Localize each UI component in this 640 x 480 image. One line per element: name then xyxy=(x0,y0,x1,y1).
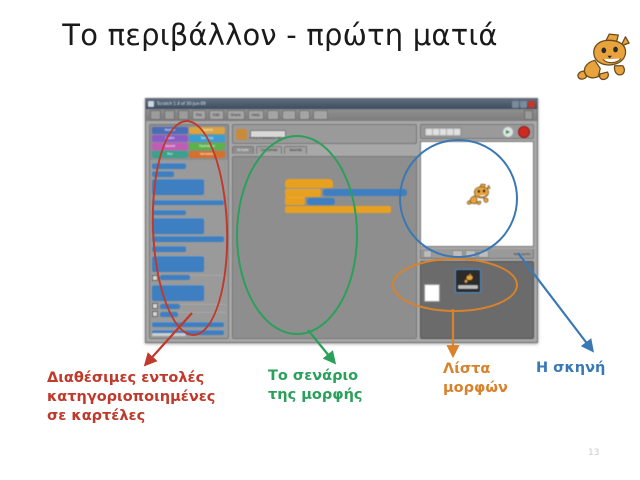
palette-block[interactable] xyxy=(152,163,186,169)
category-operators[interactable]: Operators xyxy=(189,143,225,150)
new-sprite-bar: New sprite: xyxy=(420,249,534,259)
menu-item-file[interactable]: File xyxy=(192,110,206,120)
file-new-icon[interactable] xyxy=(164,110,175,120)
palette-block[interactable] xyxy=(152,246,186,252)
annotation-label-sprite-script: Το σενάριο της μορφής xyxy=(268,367,363,405)
category-pen[interactable]: Pen xyxy=(152,151,188,158)
sprite-item-label xyxy=(458,285,478,289)
category-sound[interactable]: Sound xyxy=(152,143,188,150)
stop-button[interactable] xyxy=(518,126,530,138)
window-titlebar: Scratch 1.4 of 30-Jun-09 xyxy=(146,99,537,109)
maximize-button[interactable] xyxy=(520,101,527,108)
script-block[interactable] xyxy=(285,189,321,197)
palette-block[interactable] xyxy=(152,200,224,206)
script-block-row[interactable] xyxy=(285,197,407,205)
palette-block[interactable] xyxy=(152,256,204,272)
category-buttons: Motion Control Looks Sensing Sound Opera… xyxy=(150,125,228,160)
minimize-button[interactable] xyxy=(512,101,519,108)
close-button[interactable] xyxy=(528,101,535,108)
tab-scripts[interactable]: Scripts xyxy=(232,146,254,154)
palette-block-checkbox-row[interactable] xyxy=(152,304,226,310)
new-sprite-label: New sprite: xyxy=(514,252,531,256)
duplicate-icon[interactable] xyxy=(433,129,439,135)
script-column: x: 0 y: 0 direction: 90 Scripts Costumes… xyxy=(232,124,417,339)
slide-canvas: Το περιβάλλον - πρώτη ματιά Scratch 1.4 … xyxy=(0,0,640,480)
palette-block-checkbox-row[interactable] xyxy=(152,275,226,281)
palette-block[interactable] xyxy=(152,171,174,177)
sprite-list-item[interactable] xyxy=(455,269,481,293)
sprite-coordinates: x: 0 y: 0 direction: 90 xyxy=(249,136,281,140)
stage-thumbnail[interactable] xyxy=(424,284,440,302)
tab-sounds[interactable]: Sounds xyxy=(284,146,306,154)
scratch-cat-sprite-icon[interactable] xyxy=(465,180,491,206)
palette-block[interactable] xyxy=(160,304,180,309)
menu-item-help[interactable]: Help xyxy=(248,110,264,120)
window-menubar: File Edit Share Help xyxy=(146,109,537,121)
checkbox-icon[interactable] xyxy=(152,275,158,281)
grow-icon[interactable] xyxy=(447,129,453,135)
annotation-label-commands-palette: Διαθέσιμες εντολές κατηγοριοποιημένες σε… xyxy=(47,369,215,426)
scratch-app-icon xyxy=(148,101,154,107)
sprite-thumbnail-icon xyxy=(236,129,247,140)
script-tabs: Scripts Costumes Sounds xyxy=(232,146,417,154)
script-hat-block[interactable] xyxy=(285,179,333,188)
scissors-icon[interactable] xyxy=(440,129,446,135)
language-globe-icon[interactable] xyxy=(150,110,161,120)
palette-block[interactable] xyxy=(152,236,224,242)
palette-block-checkbox-row[interactable] xyxy=(152,312,226,318)
annotation-label-stage: Η σκηνή xyxy=(536,359,605,378)
palette-block[interactable] xyxy=(152,218,204,234)
window-controls xyxy=(512,101,535,108)
scratch-logo-icon xyxy=(524,110,533,120)
category-control[interactable]: Control xyxy=(189,127,225,134)
new-sprite-import[interactable] xyxy=(465,250,476,258)
script-block-row[interactable] xyxy=(285,189,407,197)
file-open-icon[interactable] xyxy=(178,110,189,120)
palette-block[interactable] xyxy=(152,322,224,328)
stage-area[interactable] xyxy=(420,141,534,247)
script-reporter-block[interactable] xyxy=(307,198,335,205)
scratch-cat-logo-icon xyxy=(573,26,631,82)
pointer-icon[interactable] xyxy=(426,129,432,135)
menu-item-edit[interactable]: Edit xyxy=(209,110,224,120)
category-sensing[interactable]: Sensing xyxy=(189,135,225,142)
script-block[interactable] xyxy=(285,206,391,213)
script-reporter-block[interactable] xyxy=(323,189,407,196)
sprite-info-header: x: 0 y: 0 direction: 90 xyxy=(232,124,417,144)
script-block[interactable] xyxy=(285,197,305,205)
menu-item-share[interactable]: Share xyxy=(227,110,245,120)
category-variables[interactable]: Variables xyxy=(189,151,225,158)
checkbox-icon[interactable] xyxy=(152,303,158,309)
category-looks[interactable]: Looks xyxy=(152,135,188,142)
script-stack[interactable] xyxy=(285,179,407,213)
shrink-icon[interactable] xyxy=(454,129,460,135)
sprite-list-panel[interactable] xyxy=(420,261,534,339)
checkbox-icon[interactable] xyxy=(152,311,158,317)
menubar-extra-4[interactable] xyxy=(313,110,328,120)
menubar-extra-3[interactable] xyxy=(299,110,310,120)
page-number: 13 xyxy=(588,448,599,458)
palette-block[interactable] xyxy=(160,275,190,280)
scratch-window-screenshot: Scratch 1.4 of 30-Jun-09 File Edit Share… xyxy=(145,98,538,343)
palette-block[interactable] xyxy=(152,285,204,301)
script-canvas[interactable] xyxy=(232,156,417,339)
page-title: Το περιβάλλον - πρώτη ματιά xyxy=(0,18,560,52)
new-sprite-random[interactable] xyxy=(478,250,489,258)
stage-toolbar xyxy=(420,124,534,139)
window-title: Scratch 1.4 of 30-Jun-09 xyxy=(157,99,512,109)
sprite-item-icon xyxy=(462,272,474,284)
menubar-extra-1[interactable] xyxy=(267,110,279,120)
green-flag-button[interactable] xyxy=(502,126,514,138)
block-palette-panel[interactable]: Motion Control Looks Sensing Sound Opera… xyxy=(149,124,229,339)
category-motion[interactable]: Motion xyxy=(152,127,188,134)
palette-block[interactable] xyxy=(160,312,178,317)
presentation-mode-icon[interactable] xyxy=(423,250,432,258)
stage-column: New sprite: xyxy=(420,124,534,339)
new-sprite-paint[interactable] xyxy=(452,250,463,258)
green-flag-icon xyxy=(506,130,510,134)
stage-tool-group xyxy=(424,127,462,137)
palette-blocks-list[interactable] xyxy=(150,160,228,338)
palette-block[interactable] xyxy=(152,179,204,195)
palette-scrollbar[interactable] xyxy=(152,333,186,336)
palette-block[interactable] xyxy=(152,210,186,216)
tab-costumes[interactable]: Costumes xyxy=(256,146,283,154)
window-body: Motion Control Looks Sensing Sound Opera… xyxy=(146,121,537,342)
annotation-label-sprite-list: Λίστα μορφών xyxy=(443,360,508,398)
menubar-extra-2[interactable] xyxy=(282,110,296,120)
